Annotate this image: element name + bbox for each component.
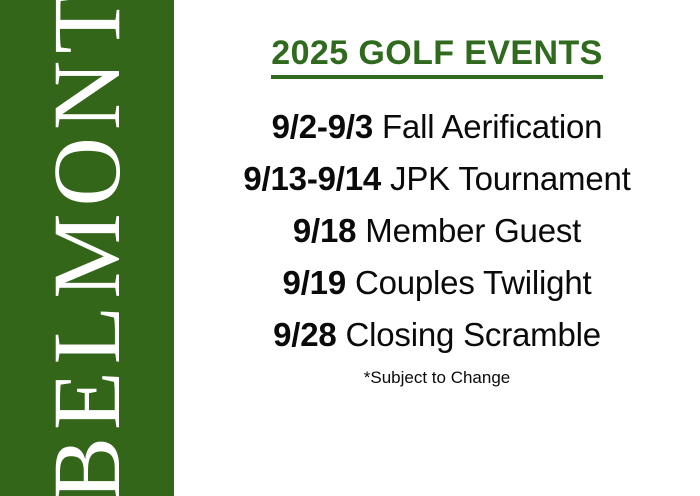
- event-date: 9/2-9/3: [272, 108, 373, 145]
- event-row: 9/19 Couples Twilight: [283, 257, 592, 309]
- event-name: Fall Aerification: [373, 108, 602, 145]
- page-title: 2025 GOLF EVENTS: [271, 33, 602, 79]
- brand-wordmark: BELMONT: [39, 0, 135, 496]
- event-date: 9/19: [283, 264, 346, 301]
- event-row: 9/2-9/3 Fall Aerification: [272, 101, 603, 153]
- content-column: 2025 GOLF EVENTS 9/2-9/3 Fall Aerificati…: [174, 0, 700, 496]
- event-row: 9/18 Member Guest: [293, 205, 581, 257]
- event-row: 9/28 Closing Scramble: [273, 309, 601, 361]
- event-date: 9/13-9/14: [243, 160, 381, 197]
- event-row: 9/13-9/14 JPK Tournament: [243, 153, 630, 205]
- event-name: Couples Twilight: [346, 264, 591, 301]
- event-name: Member Guest: [356, 212, 581, 249]
- disclaimer-text: *Subject to Change: [364, 368, 511, 388]
- brand-wordmark-container: BELMONT: [0, 0, 174, 496]
- event-name: Closing Scramble: [337, 316, 601, 353]
- event-date: 9/18: [293, 212, 356, 249]
- events-list: 9/2-9/3 Fall Aerification 9/13-9/14 JPK …: [174, 101, 700, 361]
- event-date: 9/28: [273, 316, 336, 353]
- golf-events-poster: BELMONT 2025 GOLF EVENTS 9/2-9/3 Fall Ae…: [0, 0, 700, 496]
- event-name: JPK Tournament: [381, 160, 631, 197]
- brand-band: BELMONT: [0, 0, 174, 496]
